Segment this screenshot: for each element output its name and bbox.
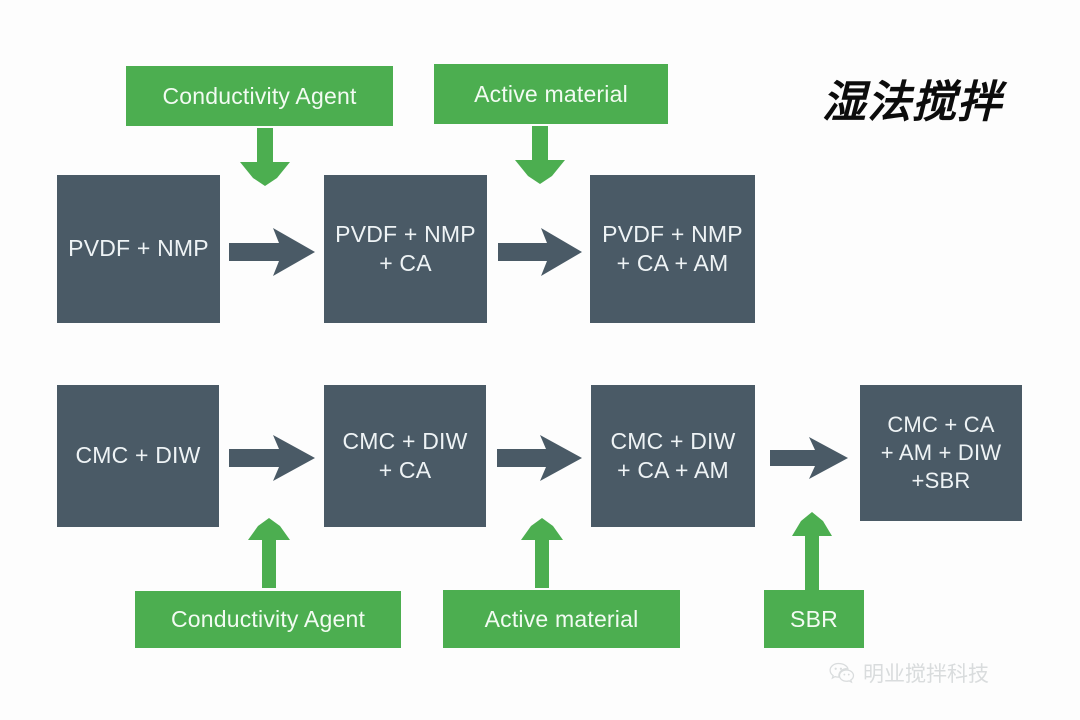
wechat-icon	[828, 660, 855, 687]
process-box-bot-step-3[interactable]: CMC + DIW + CA + AM	[591, 385, 755, 527]
green-up-arrow-icon-active-material-bottom	[519, 518, 565, 588]
material-box-sbr[interactable]: SBR	[764, 590, 864, 648]
green-up-arrow-icon-conductivity-agent-bottom	[246, 518, 292, 588]
watermark: 明业搅拌科技	[828, 658, 989, 688]
page-title: 湿法搅拌	[822, 66, 1002, 130]
process-box-bot-step-2[interactable]: CMC + DIW + CA	[324, 385, 486, 527]
green-down-arrow-icon-conductivity-agent-top	[238, 128, 292, 186]
process-box-bot-step-1[interactable]: CMC + DIW	[57, 385, 219, 527]
material-box-conductivity-agent-top[interactable]: Conductivity Agent	[126, 66, 393, 126]
material-box-active-material-bottom[interactable]: Active material	[443, 590, 680, 648]
watermark-label: 明业搅拌科技	[863, 658, 989, 688]
flow-arrow-icon-bot-2	[497, 435, 582, 481]
process-box-top-step-1[interactable]: PVDF + NMP	[57, 175, 220, 323]
flow-arrow-icon-bot-1	[229, 435, 315, 481]
flow-arrow-icon-top-1	[229, 228, 315, 276]
process-box-bot-step-4[interactable]: CMC + CA + AM + DIW +SBR	[860, 385, 1022, 521]
flow-arrow-icon-bot-3	[770, 437, 848, 479]
material-box-active-material-top[interactable]: Active material	[434, 64, 668, 124]
process-box-top-step-2[interactable]: PVDF + NMP + CA	[324, 175, 487, 323]
wet-mixing-process-diagram: 湿法搅拌 Conductivity Agent Active material …	[0, 0, 1080, 720]
green-down-arrow-icon-active-material-top	[513, 126, 567, 184]
green-up-arrow-icon-sbr	[790, 512, 834, 590]
process-box-top-step-3[interactable]: PVDF + NMP + CA + AM	[590, 175, 755, 323]
material-box-conductivity-agent-bottom[interactable]: Conductivity Agent	[135, 591, 401, 648]
flow-arrow-icon-top-2	[498, 228, 582, 276]
